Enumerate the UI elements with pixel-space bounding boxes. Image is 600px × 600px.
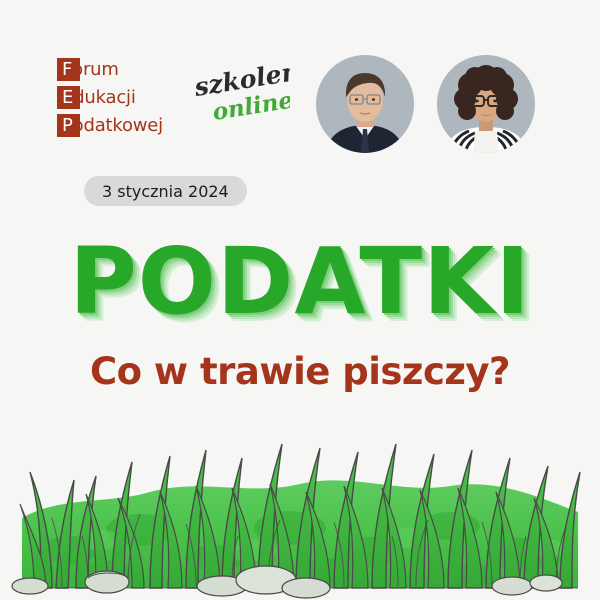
logo-line-text: Forum (62, 57, 119, 83)
logo-rest: orum (72, 59, 119, 80)
header-row: Forum Edukacji Podatkowej szkolenie onli… (0, 0, 600, 170)
logo-line-text: Podatkowej (62, 113, 163, 139)
logo-line: Podatkowej (57, 113, 187, 139)
poster-canvas: Forum Edukacji Podatkowej szkolenie onli… (0, 0, 600, 600)
forum-edukacji-podatkowej-logo: Forum Edukacji Podatkowej (57, 57, 187, 141)
logo-initial: P (62, 115, 73, 136)
speaker-photo-female (437, 55, 535, 153)
logo-initial: E (62, 87, 73, 108)
logo-line: Forum (57, 57, 187, 83)
logo-rest: odatkowej (73, 115, 163, 136)
logo-rest: dukacji (73, 87, 135, 108)
grass-illustration (0, 400, 600, 600)
logo-line-text: Edukacji (62, 85, 136, 111)
speaker-photo-male (316, 55, 414, 153)
date-badge: 3 stycznia 2024 (84, 176, 247, 206)
logo-line: Edukacji (57, 85, 187, 111)
szkolenie-online-logo: szkolenie online (190, 64, 290, 130)
page-subtitle: Co w trawie piszczy? (0, 348, 600, 396)
logo-initial: F (62, 59, 72, 80)
page-title: PODATKI (0, 232, 600, 332)
